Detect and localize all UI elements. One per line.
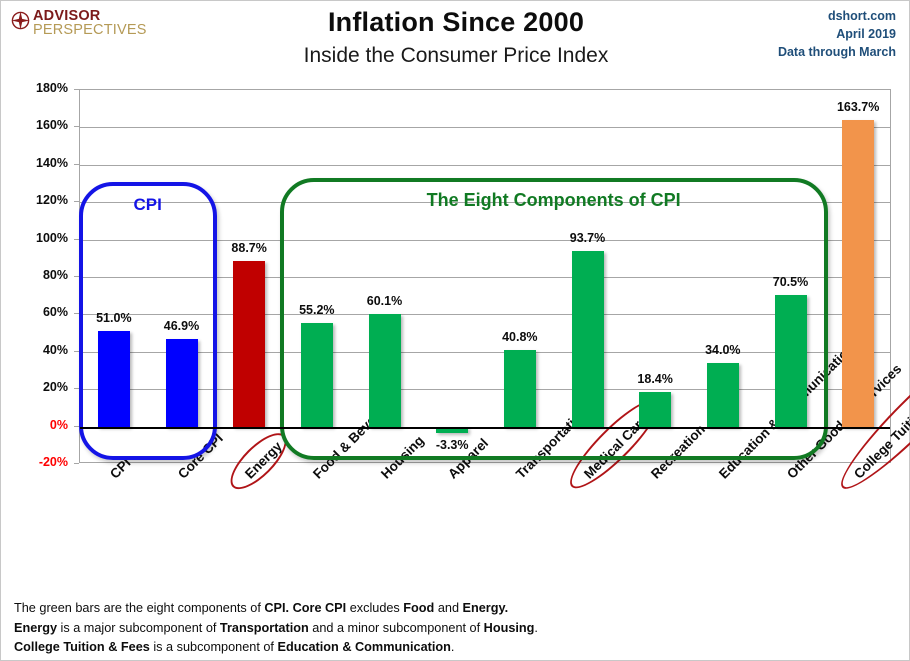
bar <box>233 261 265 427</box>
y-axis-tick-label: 60% <box>1 305 68 319</box>
bar <box>842 120 874 426</box>
chart-title: Inflation Since 2000 <box>1 7 910 38</box>
bar-value-label: 18.4% <box>615 372 695 386</box>
y-axis-tick-label: 160% <box>1 118 68 132</box>
gridline <box>80 127 890 128</box>
y-axis-tick-label: 180% <box>1 81 68 95</box>
cpi-group-label: CPI <box>79 195 217 215</box>
footnote-line-1: The green bars are the eight components … <box>14 599 714 619</box>
source-date: April 2019 <box>778 25 896 43</box>
chart-page: ADVISOR PERSPECTIVES Inflation Since 200… <box>0 0 910 661</box>
y-axis-tick-label: -20% <box>1 455 68 469</box>
plot-area: 51.0%46.9%88.7%55.2%60.1%-3.3%40.8%93.7%… <box>79 89 891 463</box>
y-axis-tick-label: 100% <box>1 231 68 245</box>
bar-value-label: 70.5% <box>751 275 831 289</box>
chart-subtitle: Inside the Consumer Price Index <box>1 44 910 68</box>
footnote: The green bars are the eight components … <box>14 599 714 658</box>
source-site: dshort.com <box>778 7 896 25</box>
source-note: Data through March <box>778 43 896 61</box>
bar-value-label: 163.7% <box>818 100 898 114</box>
zero-line <box>80 427 890 429</box>
footnote-line-2: Energy is a major subcomponent of Transp… <box>14 619 714 639</box>
bar-value-label: -3.3% <box>412 438 492 452</box>
y-axis-tick <box>74 463 79 464</box>
footnote-line-3: College Tuition & Fees is a subcomponent… <box>14 638 714 658</box>
bar-value-label: 60.1% <box>345 294 425 308</box>
y-axis-tick-label: 80% <box>1 268 68 282</box>
source-block: dshort.com April 2019 Data through March <box>778 7 896 61</box>
bar-value-label: 88.7% <box>209 241 289 255</box>
y-axis-tick-label: 120% <box>1 193 68 207</box>
y-axis-tick-label: 0% <box>1 418 68 432</box>
y-axis-tick-label: 20% <box>1 380 68 394</box>
y-axis-tick-label: 40% <box>1 343 68 357</box>
components-group-label: The Eight Components of CPI <box>280 190 828 211</box>
y-axis-tick-label: 140% <box>1 156 68 170</box>
bar-value-label: 93.7% <box>548 231 628 245</box>
gridline <box>80 165 890 166</box>
components-group-box <box>280 178 828 460</box>
bar-value-label: 40.8% <box>480 330 560 344</box>
bar-value-label: 34.0% <box>683 343 763 357</box>
bar-value-label: 46.9% <box>142 319 222 333</box>
